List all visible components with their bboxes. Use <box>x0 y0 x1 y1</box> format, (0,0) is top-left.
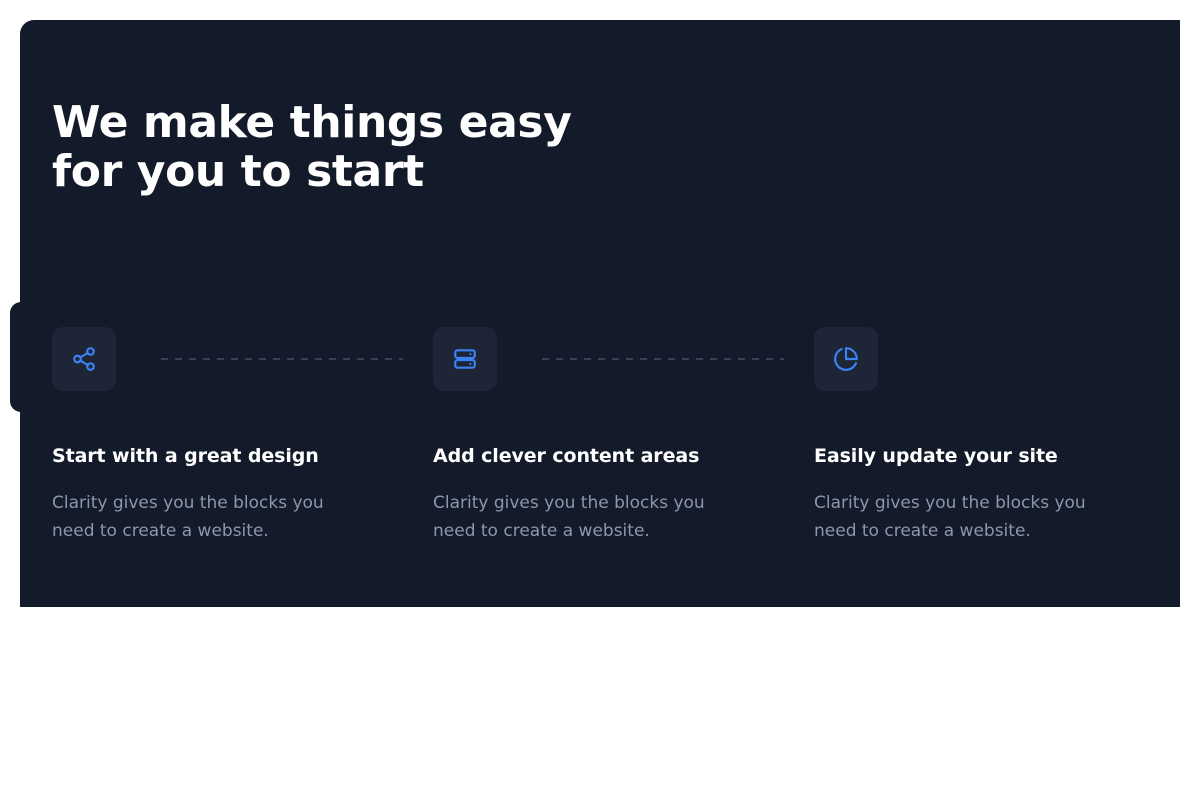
server-rows-icon[interactable] <box>433 327 497 391</box>
feature-connector-line <box>542 358 784 360</box>
feature-title: Start with a great design <box>52 445 433 467</box>
drawer-handle[interactable] <box>10 302 32 412</box>
feature-connector-line <box>161 358 403 360</box>
feature-item: Add clever content areas Clarity gives y… <box>433 326 814 545</box>
feature-icon-row <box>52 326 433 392</box>
feature-description: Clarity gives you the blocks you need to… <box>814 489 1114 545</box>
page-title: We make things easy for you to start <box>52 98 572 196</box>
feature-list: Start with a great design Clarity gives … <box>52 326 1148 545</box>
feature-title: Add clever content areas <box>433 445 814 467</box>
feature-description: Clarity gives you the blocks you need to… <box>52 489 352 545</box>
feature-title: Easily update your site <box>814 445 1195 467</box>
feature-description: Clarity gives you the blocks you need to… <box>433 489 733 545</box>
feature-item: Easily update your site Clarity gives yo… <box>814 326 1195 545</box>
share-nodes-icon[interactable] <box>52 327 116 391</box>
feature-icon-row <box>433 326 814 392</box>
feature-icon-row <box>814 326 1195 392</box>
feature-item: Start with a great design Clarity gives … <box>52 326 433 545</box>
hero-panel: We make things easy for you to start Sta… <box>20 20 1180 607</box>
pie-chart-icon[interactable] <box>814 327 878 391</box>
